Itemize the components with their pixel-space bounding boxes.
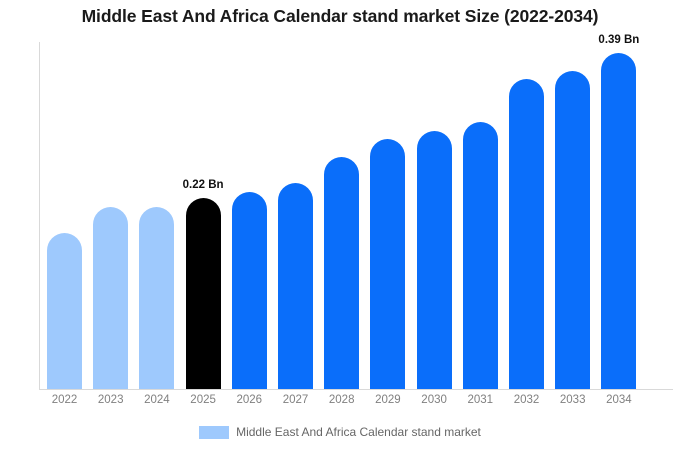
- bar-2030[interactable]: [417, 131, 452, 390]
- bar-2031[interactable]: [463, 122, 498, 389]
- bar-2034[interactable]: [601, 53, 636, 389]
- y-axis-line: [39, 42, 40, 390]
- chart-legend: Middle East And Africa Calendar stand ma…: [0, 425, 680, 439]
- bar-2032[interactable]: [509, 79, 544, 389]
- bar-2027[interactable]: [278, 183, 313, 389]
- x-axis-tick-label: 2034: [589, 394, 649, 406]
- x-axis-line: [39, 389, 673, 390]
- value-label-2025: 0.22 Bn: [183, 179, 224, 191]
- bar-2025[interactable]: [186, 198, 221, 389]
- legend-swatch-icon: [199, 426, 229, 439]
- bar-2028[interactable]: [324, 157, 359, 389]
- bar-2023[interactable]: [93, 207, 128, 389]
- legend-item-label: Middle East And Africa Calendar stand ma…: [236, 425, 481, 439]
- bar-2033[interactable]: [555, 71, 590, 389]
- bar-2026[interactable]: [232, 192, 267, 389]
- bar-2024[interactable]: [139, 207, 174, 389]
- bar-chart: Middle East And Africa Calendar stand ma…: [0, 0, 680, 450]
- value-label-2034: 0.39 Bn: [598, 34, 639, 46]
- chart-title: Middle East And Africa Calendar stand ma…: [0, 6, 680, 27]
- bar-2029[interactable]: [370, 139, 405, 389]
- plot-area: 00.050.100.150.200.250.300.350.40 0.22 B…: [39, 42, 673, 390]
- bar-2022[interactable]: [47, 233, 82, 389]
